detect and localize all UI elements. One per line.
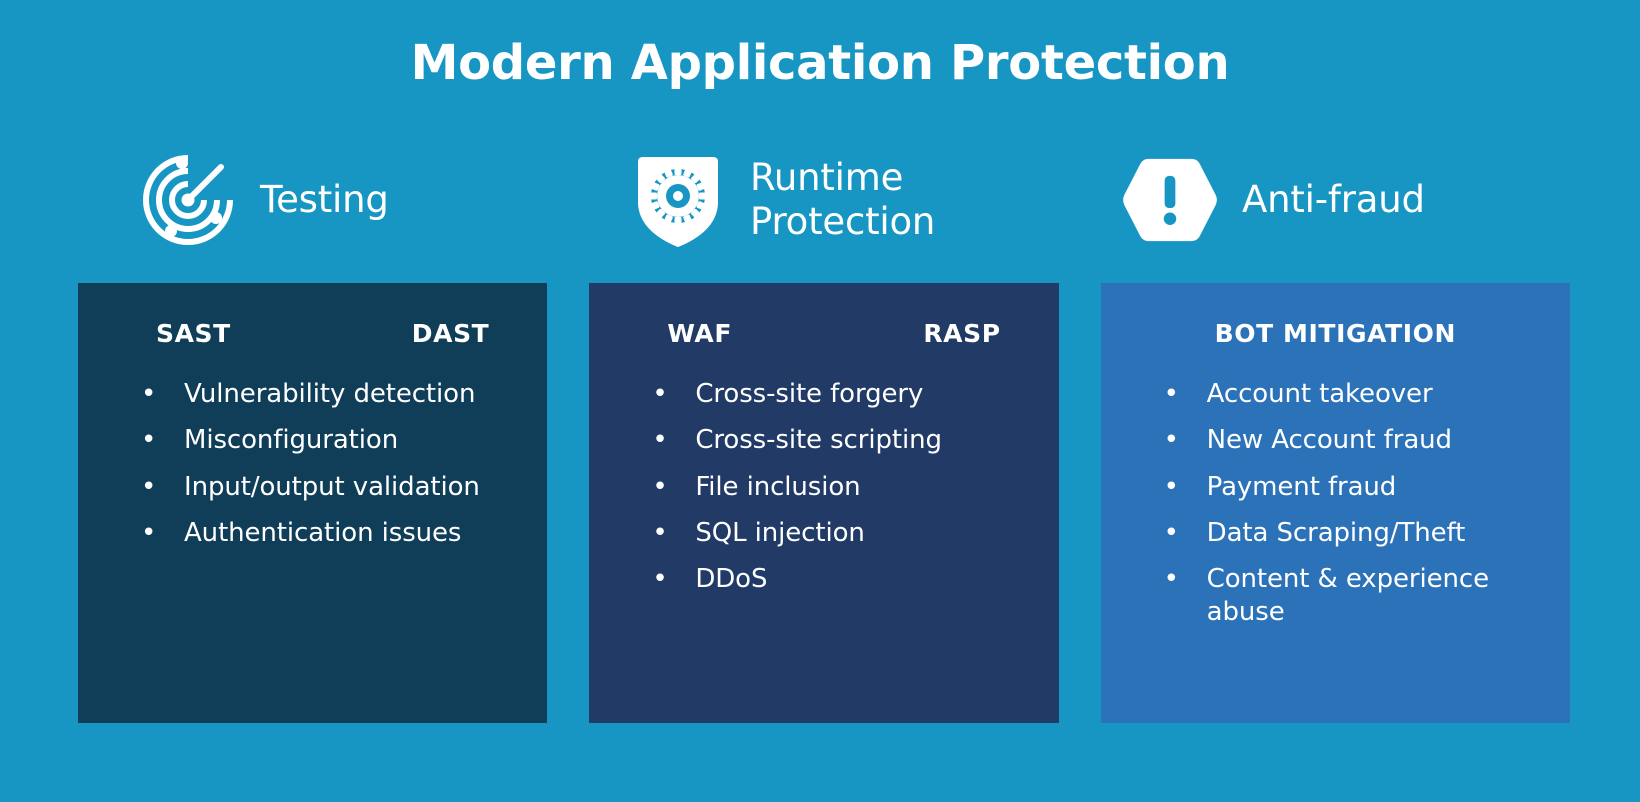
card-heading-waf: WAF (667, 319, 732, 348)
column-header-runtime-protection: Runtime Protection (578, 140, 1078, 260)
list-item: • DDoS (647, 563, 1028, 596)
bullet-list-anti-fraud: • Account takeover • New Account fraud •… (1131, 378, 1540, 643)
list-item: • Input/output validation (136, 471, 517, 504)
bullet-marker: • (1159, 517, 1207, 550)
bullet-text: File inclusion (695, 471, 860, 504)
card-headings-anti-fraud: BOT MITIGATION (1131, 319, 1540, 348)
bullet-text: Content & experience abuse (1207, 563, 1517, 630)
bullet-marker: • (136, 378, 184, 411)
bullet-text: SQL injection (695, 517, 864, 550)
card-heading-dast: DAST (412, 319, 490, 348)
list-item: • Cross-site scripting (647, 424, 1028, 457)
bullet-marker: • (1159, 378, 1207, 411)
bullet-text: New Account fraud (1207, 424, 1452, 457)
bullet-text: DDoS (695, 563, 767, 596)
cards-container: SAST DAST • Vulnerability detection • Mi… (78, 283, 1570, 723)
list-item: • Misconfiguration (136, 424, 517, 457)
bullet-text: Payment fraud (1207, 471, 1397, 504)
list-item: • Authentication issues (136, 517, 517, 550)
slide-canvas: Modern Application Protection Testi (0, 0, 1640, 802)
bullet-marker: • (1159, 424, 1207, 457)
card-anti-fraud: BOT MITIGATION • Account takeover • New … (1101, 283, 1570, 723)
column-header-testing: Testing (78, 140, 578, 260)
bullet-text: Cross-site scripting (695, 424, 942, 457)
bullet-text: Account takeover (1207, 378, 1433, 411)
bullet-marker: • (136, 424, 184, 457)
card-headings-runtime: WAF RASP (619, 319, 1028, 348)
bullet-text: Vulnerability detection (184, 378, 475, 411)
list-item: • SQL injection (647, 517, 1028, 550)
column-label-testing: Testing (260, 178, 389, 222)
radar-scan-icon (138, 150, 238, 250)
card-heading-rasp: RASP (923, 319, 1000, 348)
card-heading-bot-mitigation: BOT MITIGATION (1215, 319, 1456, 348)
list-item: • Data Scraping/Theft (1159, 517, 1540, 550)
card-headings-testing: SAST DAST (108, 319, 517, 348)
bullet-text: Authentication issues (184, 517, 461, 550)
bullet-marker: • (647, 424, 695, 457)
list-item: • Account takeover (1159, 378, 1540, 411)
bullet-marker: • (647, 563, 695, 596)
bullet-text: Misconfiguration (184, 424, 398, 457)
column-headers: Testing (78, 140, 1570, 260)
column-header-anti-fraud: Anti-fraud (1078, 140, 1570, 260)
list-item: • Vulnerability detection (136, 378, 517, 411)
shield-gear-icon (628, 150, 728, 250)
list-item: • Content & experience abuse (1159, 563, 1540, 630)
list-item: • File inclusion (647, 471, 1028, 504)
bullet-list-runtime: • Cross-site forgery • Cross-site script… (619, 378, 1028, 609)
bullet-marker: • (136, 517, 184, 550)
page-title: Modern Application Protection (0, 36, 1640, 91)
card-testing: SAST DAST • Vulnerability detection • Mi… (78, 283, 547, 723)
bullet-marker: • (1159, 563, 1207, 596)
bullet-marker: • (647, 471, 695, 504)
bullet-marker: • (647, 378, 695, 411)
column-label-runtime-protection: Runtime Protection (750, 156, 1078, 243)
bullet-text: Data Scraping/Theft (1207, 517, 1466, 550)
list-item: • New Account fraud (1159, 424, 1540, 457)
card-runtime-protection: WAF RASP • Cross-site forgery • Cross-si… (589, 283, 1058, 723)
bullet-list-testing: • Vulnerability detection • Misconfigura… (108, 378, 517, 563)
bullet-text: Cross-site forgery (695, 378, 923, 411)
list-item: • Cross-site forgery (647, 378, 1028, 411)
column-label-anti-fraud: Anti-fraud (1242, 178, 1425, 222)
card-heading-sast: SAST (156, 319, 231, 348)
bullet-marker: • (1159, 471, 1207, 504)
bullet-marker: • (136, 471, 184, 504)
bullet-text: Input/output validation (184, 471, 480, 504)
hexagon-alert-icon (1120, 150, 1220, 250)
bullet-marker: • (647, 517, 695, 550)
list-item: • Payment fraud (1159, 471, 1540, 504)
